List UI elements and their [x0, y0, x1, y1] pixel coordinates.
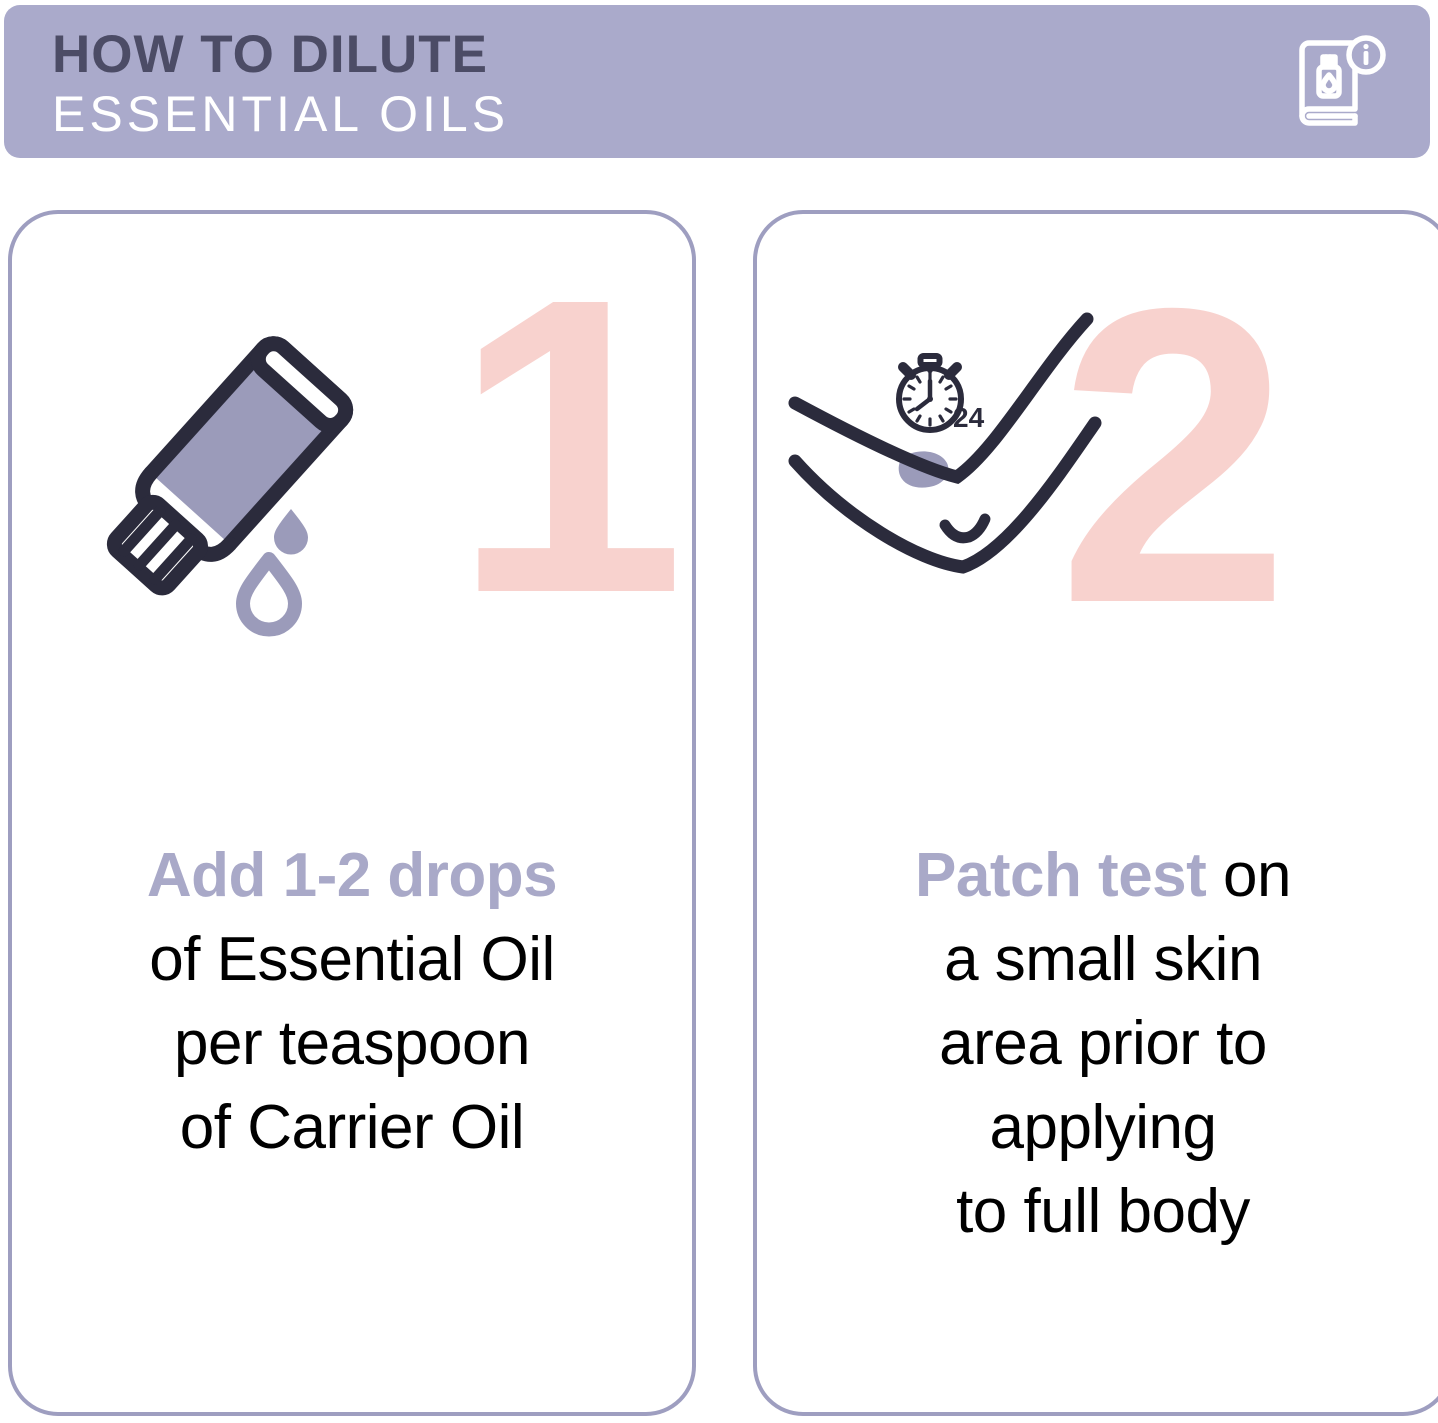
oil-bottle-manual-info-icon: [1286, 31, 1390, 135]
step-1-illustration: 1: [12, 214, 692, 684]
text-line: per teaspoon: [30, 1002, 674, 1086]
emphasis-text: Add 1-2 drops: [147, 841, 557, 910]
step-card-2: 2: [753, 210, 1438, 1416]
step-card-1: 1: [8, 210, 696, 1416]
step-number-1: 1: [452, 252, 686, 642]
text-line: applying: [775, 1086, 1431, 1170]
bent-arm-patch-test-timer-icon: 24: [777, 299, 1117, 609]
step-2-illustration: 2: [757, 214, 1438, 684]
text-line: of Essential Oil: [30, 918, 674, 1002]
emphasis-text: Patch test: [915, 841, 1206, 910]
text-line: a small skin: [775, 918, 1431, 1002]
text-line: Patch test on: [775, 834, 1431, 918]
text-line: to full body: [775, 1170, 1431, 1254]
text-line: Add 1-2 drops: [30, 834, 674, 918]
header-text-block: HOW TO DILUTE ESSENTIAL OILS: [52, 25, 509, 143]
page-subtitle: ESSENTIAL OILS: [52, 85, 509, 143]
page-title: HOW TO DILUTE: [52, 25, 509, 85]
steps-container: 1: [0, 210, 1438, 1420]
text-line: of Carrier Oil: [30, 1086, 674, 1170]
header-bar: HOW TO DILUTE ESSENTIAL OILS: [4, 5, 1430, 158]
step-1-text: Add 1-2 drops of Essential Oil per teasp…: [12, 834, 692, 1170]
step-2-text: Patch test on a small skin area prior to…: [757, 834, 1438, 1254]
stopwatch-label: 24: [953, 402, 985, 433]
text-rest: on: [1206, 841, 1291, 910]
text-line: area prior to: [775, 1002, 1431, 1086]
tilted-dropper-bottle-icon: [72, 309, 362, 649]
